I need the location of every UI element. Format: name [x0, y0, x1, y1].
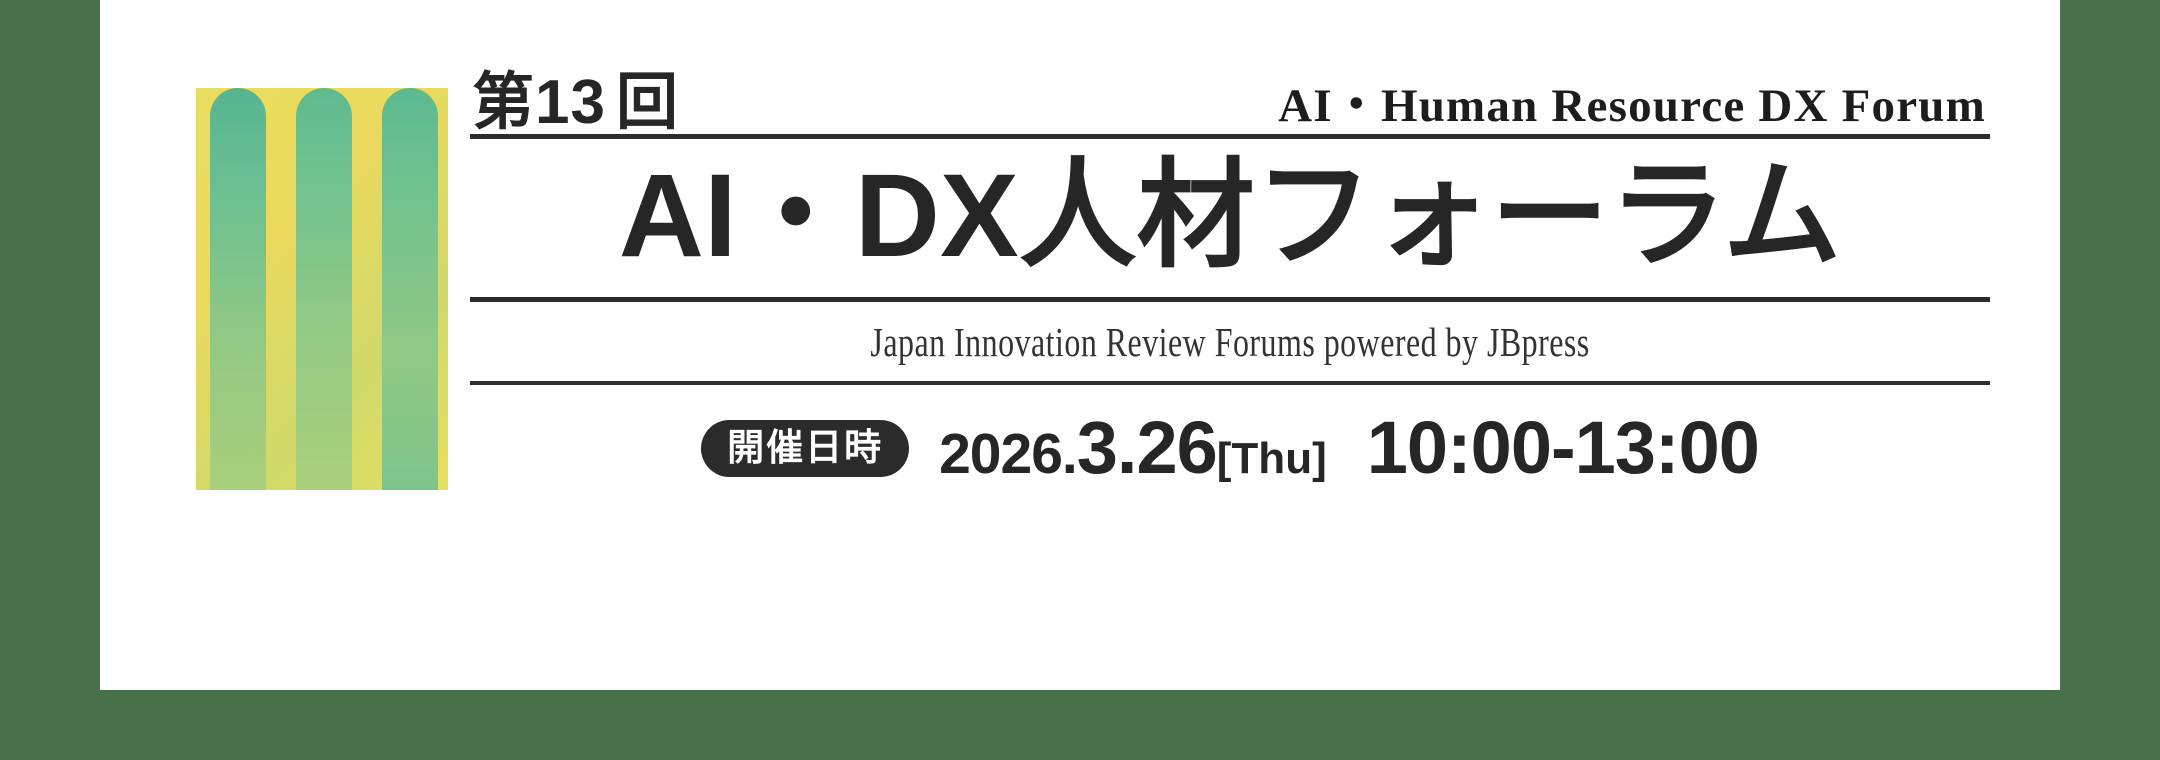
header-row: 第13回 AI・Human Resource DX Forum — [470, 38, 1990, 134]
logo-bar-1 — [210, 88, 266, 490]
edition-number: 13 — [535, 68, 606, 137]
tagline-block: Japan Innovation Review Forums powered b… — [470, 302, 1990, 381]
event-logo-mark — [196, 88, 448, 490]
title-block: AI・DX人材フォーラム — [470, 139, 1990, 297]
event-time-range: 10:00-13:00 — [1367, 411, 1759, 485]
logo-bar-2 — [296, 88, 352, 490]
event-details-column: 第13回 AI・Human Resource DX Forum AI・DX人材フ… — [470, 38, 1990, 495]
event-year: 2026. — [939, 426, 1077, 483]
event-card: 第13回 AI・Human Resource DX Forum AI・DX人材フ… — [100, 0, 2060, 690]
event-day-of-week: [Thu] — [1217, 437, 1327, 481]
event-month-day: 3.26 — [1077, 411, 1217, 485]
tagline: Japan Innovation Review Forums powered b… — [870, 318, 1589, 366]
edition-prefix: 第 — [472, 68, 535, 137]
edition-suffix: 回 — [616, 68, 679, 137]
english-title: AI・Human Resource DX Forum — [1278, 83, 1986, 134]
status-badge: 開催日時 — [701, 420, 909, 477]
edition-label: 第13回 — [472, 72, 679, 134]
logo-bar-3 — [382, 88, 438, 490]
schedule-row: 開催日時 2026. 3.26 [Thu] 10:00-13:00 — [470, 385, 1990, 495]
page-title: AI・DX人材フォーラム — [619, 157, 1841, 275]
event-date: 2026. 3.26 [Thu] — [939, 411, 1327, 485]
poster-stage: 第13回 AI・Human Resource DX Forum AI・DX人材フ… — [0, 0, 2160, 760]
